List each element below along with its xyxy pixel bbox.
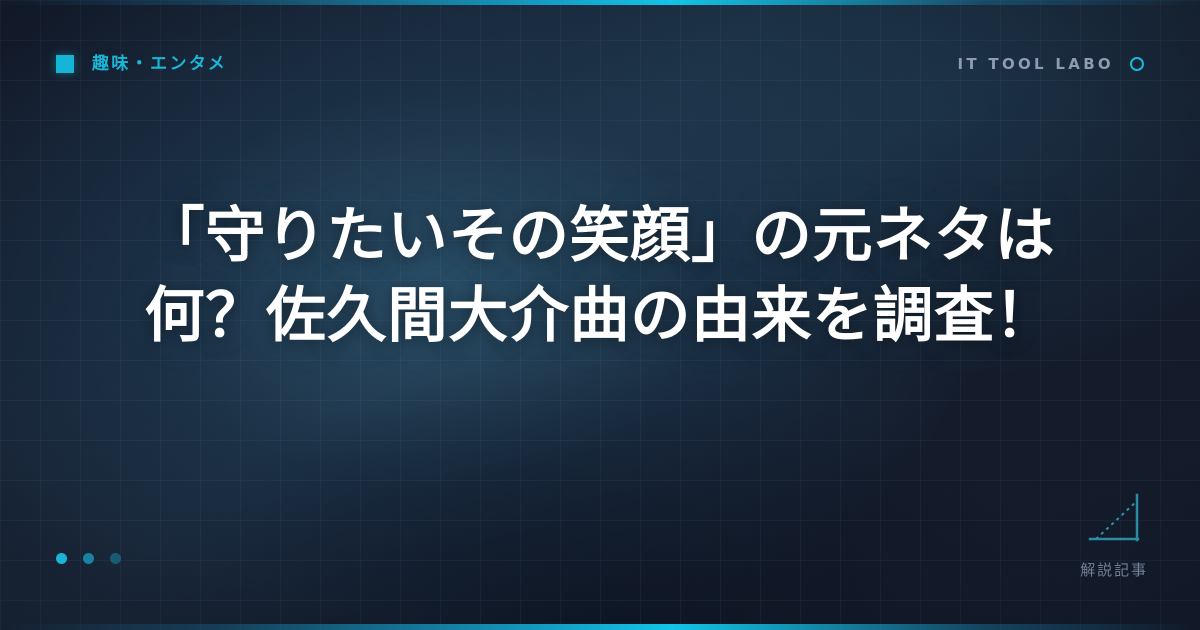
title-line-1: 「守りたいその笑顔」の元ネタは [70, 196, 1130, 276]
brand-name-label: IT TOOL LABO [957, 57, 1114, 72]
page-title: 「守りたいその笑顔」の元ネタは 何？佐久間大介曲の由来を調査！ [0, 196, 1200, 357]
category-label: 趣味・エンタメ [92, 56, 227, 73]
brand-logo[interactable]: IT TOOL LABO [957, 57, 1144, 72]
dot-3 [110, 553, 121, 564]
dot-2 [83, 553, 94, 564]
three-dots-indicator-icon [56, 553, 121, 564]
right-angle-diagonal-icon [1082, 491, 1146, 547]
category-tag[interactable]: 趣味・エンタメ [56, 55, 227, 73]
article-type-label: 解説記事 [1080, 563, 1148, 578]
thumbnail-canvas: 趣味・エンタメ IT TOOL LABO 「守りたいその笑顔」の元ネタは 何？佐… [0, 0, 1200, 630]
dot-1 [56, 553, 67, 564]
bottom-accent-bar [0, 624, 1200, 630]
circle-outline-icon [1130, 57, 1144, 71]
article-type-mark: 解説記事 [1080, 491, 1148, 578]
header-bar: 趣味・エンタメ IT TOOL LABO [56, 46, 1144, 82]
title-line-2: 何？佐久間大介曲の由来を調査！ [70, 276, 1130, 356]
top-accent-bar [0, 0, 1200, 5]
square-marker-icon [56, 55, 74, 73]
